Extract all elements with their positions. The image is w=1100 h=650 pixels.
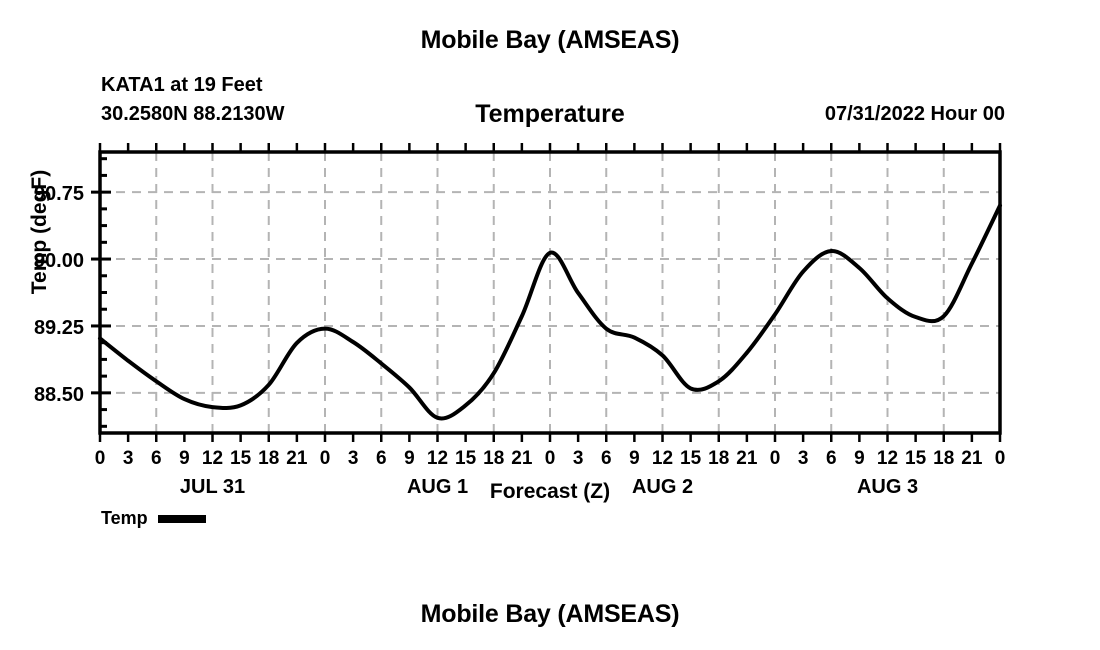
x-tick-label: 3 — [573, 448, 584, 469]
x-tick-label: 15 — [680, 448, 702, 469]
x-tick-label: 12 — [427, 448, 448, 469]
x-axis-title: Forecast (Z) — [0, 480, 1100, 504]
x-tick-label: 15 — [905, 448, 927, 469]
x-tick-label: 0 — [320, 448, 331, 469]
x-tick-label: 21 — [736, 448, 758, 469]
x-tick-label: 0 — [95, 448, 106, 469]
x-tick-label: 6 — [376, 448, 387, 469]
x-axis-tick-labels: 0369121518210369121518210369121518210369… — [95, 448, 1006, 469]
x-tick-label: 3 — [348, 448, 359, 469]
x-tick-label: 9 — [404, 448, 415, 469]
chart-page: Mobile Bay (AMSEAS) KATA1 at 19 Feet 30.… — [0, 0, 1100, 650]
x-tick-label: 6 — [826, 448, 837, 469]
x-tick-label: 18 — [708, 448, 729, 469]
page-title-bottom: Mobile Bay (AMSEAS) — [0, 600, 1100, 629]
legend: Temp — [101, 508, 206, 529]
y-tick-label: 88.50 — [34, 384, 84, 406]
x-tick-label: 12 — [877, 448, 898, 469]
x-tick-label: 0 — [770, 448, 781, 469]
legend-swatch-temp — [158, 515, 206, 523]
x-tick-label: 6 — [151, 448, 162, 469]
grid-lines — [100, 152, 1000, 433]
x-tick-label: 15 — [230, 448, 252, 469]
axis-frame — [100, 152, 1000, 433]
y-axis-title: Temp (degF) — [28, 132, 52, 332]
x-tick-label: 9 — [629, 448, 640, 469]
x-tick-label: 12 — [202, 448, 223, 469]
x-tick-label: 9 — [179, 448, 190, 469]
x-tick-label: 12 — [652, 448, 673, 469]
chart-svg: 88.5089.2590.0090.75 0369121518210369121… — [0, 0, 1100, 650]
x-tick-label: 18 — [483, 448, 504, 469]
x-tick-label: 0 — [995, 448, 1006, 469]
x-tick-label: 15 — [455, 448, 477, 469]
x-tick-label: 18 — [258, 448, 279, 469]
x-tick-label: 21 — [961, 448, 983, 469]
axis-ticks — [91, 143, 1000, 442]
x-tick-label: 21 — [511, 448, 533, 469]
x-tick-label: 18 — [933, 448, 954, 469]
x-tick-label: 3 — [798, 448, 809, 469]
x-tick-label: 9 — [854, 448, 865, 469]
x-tick-label: 3 — [123, 448, 134, 469]
legend-label-temp: Temp — [101, 508, 148, 529]
x-tick-label: 6 — [601, 448, 612, 469]
x-tick-label: 21 — [286, 448, 308, 469]
x-tick-label: 0 — [545, 448, 556, 469]
plot-area: 88.5089.2590.0090.75 0369121518210369121… — [0, 0, 1100, 650]
